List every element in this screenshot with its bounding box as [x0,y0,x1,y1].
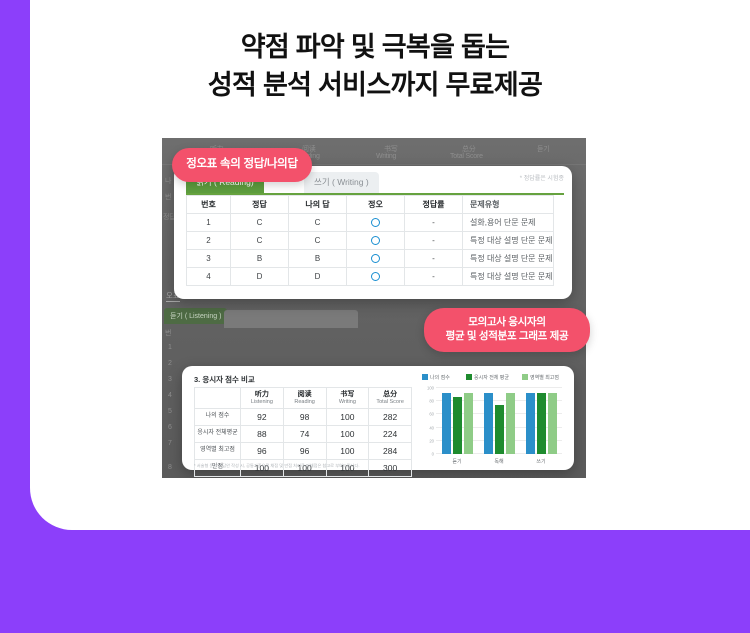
cell-answer: C [231,214,289,232]
bg-col-sub-total: Total Score [450,153,483,160]
score-row-label: 나의 점수 [195,409,241,426]
table-row: 2 C C - 특정 대상 설명 단문 문제 [187,232,554,250]
chart-bar [506,393,515,454]
chart-x-label: 쓰기 [521,458,561,465]
col-no: 번호 [187,196,231,214]
badge-chart-line-2: 평균 및 성적분포 그래프 제공 [446,330,569,344]
score-col-total: 总分 Total Score [369,388,412,409]
chart-x-label: 듣기 [437,458,477,465]
cell-my-answer: C [289,214,347,232]
circle-correct-icon [371,218,380,227]
bg-row-num-8: 8 [168,464,172,471]
score-total: 224 [369,426,412,443]
chart-bar [442,393,451,454]
bg-tab-listening[interactable]: 듣기 ( Listening ) [164,308,227,324]
chart-bar [464,393,473,454]
cell-answer: B [231,250,289,268]
cell-my-answer: C [289,232,347,250]
cell-ox [347,232,405,250]
bg-row-num-7: 7 [168,440,172,447]
cell-no: 3 [187,250,231,268]
circle-correct-icon [371,236,380,245]
score-listening: 96 [241,443,284,460]
chart-y-tick: 0 [422,452,434,457]
cell-my-answer: D [289,268,347,286]
table-row: 1 C C - 설화,용어 단문 문제 [187,214,554,232]
score-table-header-row: 听力 Listening 阅读 Reading 书写 Writing 总分 To… [195,388,412,409]
cell-rate: - [405,268,463,286]
badge-chart-line-1: 모의고사 응시자의 [468,316,546,330]
badge-answer-table: 정오표 속의 정답/나의답 [172,148,312,182]
bg-row-header: 번 [165,328,171,338]
table-row: 영역별 최고점 96 96 100 284 [195,443,412,460]
cell-ox [347,268,405,286]
chart-bar [495,405,504,454]
answer-table: 번호 정답 나의 답 정오 정답률 문제유형 1 C C - 설화,용어 단문 … [186,195,554,286]
score-footnote: * 서술형 문항은 답안 작성 시, 공통기준으로 채점 및 만점 처리로 미채… [194,463,359,469]
col-answer: 정답 [231,196,289,214]
score-reading: 98 [283,409,326,426]
answer-table-card: 읽기 ( Reading) 쓰기 ( Writing ) * 정답률은 시험종 … [174,166,572,299]
chart-x-label: 독해 [479,458,519,465]
cell-ox [347,250,405,268]
cell-no: 1 [187,214,231,232]
score-card-title: 3. 응시자 점수 비교 [194,374,255,385]
legend-item-my-score: 나의 점수 [422,374,450,381]
bg-col-head-listen-ko: 듣기 [537,144,549,154]
cell-type: 특정 대상 설명 단문 문제 [463,232,554,250]
legend-swatch-icon [422,374,428,380]
chart-plot-area: 020406080100듣기독해쓰기 [436,388,562,454]
chart-bar [537,393,546,454]
score-col-blank [195,388,241,409]
cell-type: 특정 대상 설명 단문 문제 [463,250,554,268]
score-row-label: 영역별 최고점 [195,443,241,460]
circle-correct-icon [371,272,380,281]
legend-item-max: 영역별 최고점 [522,374,559,381]
chart-y-tick: 40 [422,425,434,430]
bg-tab-3[interactable] [288,310,358,328]
chart-bar [453,397,462,454]
score-col-reading: 阅读 Reading [283,388,326,409]
table-row: 4 D D - 특정 대상 설명 단문 문제 [187,268,554,286]
score-listening: 88 [241,426,284,443]
score-reading: 74 [283,426,326,443]
answer-rate-note: * 정답률은 시험종 [520,173,564,182]
col-type: 문제유형 [463,196,554,214]
chart-bar-group: 듣기 [436,388,478,454]
page-headline: 약점 파악 및 극복을 돕는 성적 분석 서비스까지 무료제공 [0,28,750,105]
bg-row-num-4: 4 [168,392,172,399]
cell-no: 2 [187,232,231,250]
cell-answer: D [231,268,289,286]
bg-col-sub-writing: Writing [376,153,396,160]
score-row-label: 응시자 전체평균 [195,426,241,443]
cell-type: 특정 대상 설명 단문 문제 [463,268,554,286]
circle-correct-icon [371,254,380,263]
score-bar-chart: 나의 점수 응시자 전체 평균 영역별 최고점 020406080100듣기독해… [422,374,564,466]
score-total: 282 [369,409,412,426]
cell-rate: - [405,214,463,232]
cell-my-answer: B [289,250,347,268]
bg-left-label-2: 번 [165,192,171,202]
score-comparison-card: 3. 응시자 점수 비교 听力 Listening 阅读 Reading 书写 [182,366,574,470]
bg-left-label-1: 나 [165,176,171,186]
table-row: 응시자 전체평균 88 74 100 224 [195,426,412,443]
chart-legend: 나의 점수 응시자 전체 평균 영역별 최고점 [422,374,564,384]
score-total: 284 [369,443,412,460]
score-col-listening: 听力 Listening [241,388,284,409]
chart-y-tick: 80 [422,399,434,404]
chart-bar [526,393,535,454]
headline-line-2: 성적 분석 서비스까지 무료제공 [0,66,750,104]
cell-no: 4 [187,268,231,286]
bg-row-num-1: 1 [168,344,172,351]
headline-line-1: 약점 파악 및 극복을 돕는 [0,28,750,66]
table-row: 나의 점수 92 98 100 282 [195,409,412,426]
score-col-writing: 书写 Writing [326,388,369,409]
chart-bar [548,393,557,454]
chart-bar-group: 독해 [478,388,520,454]
chart-y-tick: 100 [422,386,434,391]
table-row: 3 B B - 특정 대상 설명 단문 문제 [187,250,554,268]
chart-bar [484,393,493,454]
legend-item-average: 응시자 전체 평균 [466,374,509,381]
score-writing: 100 [326,426,369,443]
answer-table-header-row: 번호 정답 나의 답 정오 정답률 문제유형 [187,196,554,214]
badge-chart-info: 모의고사 응시자의 평균 및 성적분포 그래프 제공 [424,308,590,352]
chart-y-tick: 20 [422,438,434,443]
col-my-answer: 나의 답 [289,196,347,214]
bg-row-num-6: 6 [168,424,172,431]
bg-row-num-3: 3 [168,376,172,383]
cell-ox [347,214,405,232]
score-writing: 100 [326,443,369,460]
col-ox: 정오 [347,196,405,214]
cell-rate: - [405,232,463,250]
cell-rate: - [405,250,463,268]
tab-writing[interactable]: 쓰기 ( Writing ) [304,172,379,193]
chart-bar-group: 쓰기 [520,388,562,454]
score-reading: 96 [283,443,326,460]
legend-swatch-icon [522,374,528,380]
score-writing: 100 [326,409,369,426]
score-listening: 92 [241,409,284,426]
bg-row-num-5: 5 [168,408,172,415]
cell-type: 설화,용어 단문 문제 [463,214,554,232]
score-total: 300 [369,460,412,477]
legend-swatch-icon [466,374,472,380]
bg-row-num-2: 2 [168,360,172,367]
chart-y-tick: 60 [422,412,434,417]
col-rate: 정답률 [405,196,463,214]
cell-answer: C [231,232,289,250]
bg-tab-2[interactable] [224,310,294,328]
